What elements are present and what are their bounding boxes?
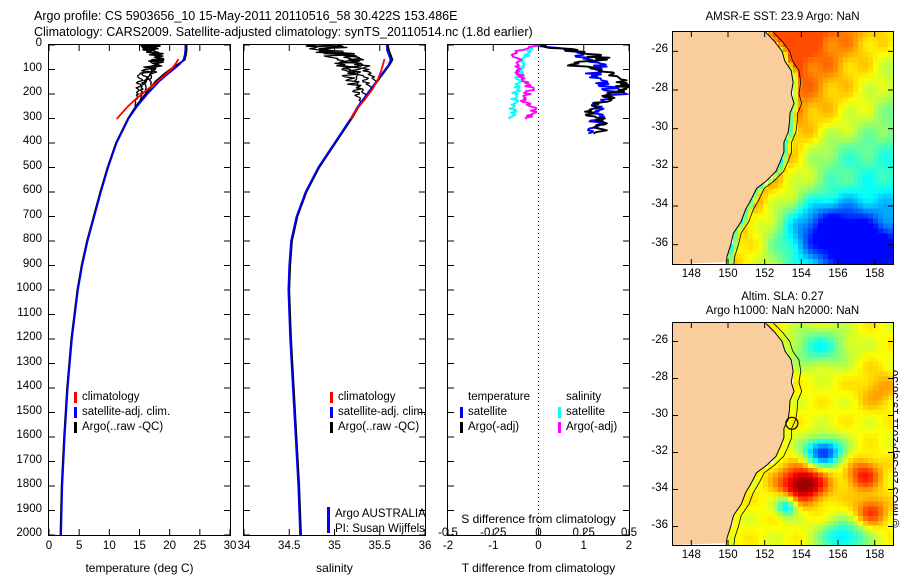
- map-lon-tick-label: 148: [671, 268, 711, 280]
- attribution-swatch: [327, 507, 330, 533]
- legend-entry: satellite-adj. clim.: [330, 405, 426, 420]
- depth-tick-label: 1900: [0, 503, 42, 515]
- depth-tick-label: 100: [0, 62, 42, 74]
- depth-tick-label: 2000: [0, 527, 42, 539]
- axis-tick-label: -1: [471, 540, 515, 552]
- depth-tick-label: 300: [0, 111, 42, 123]
- depth-tick-label: 1100: [0, 307, 42, 319]
- map-lon-tick-label: 156: [818, 268, 858, 280]
- sla-map-field: [673, 323, 893, 545]
- map-lon-tick-label: 152: [745, 549, 785, 561]
- depth-tick-label: 1600: [0, 429, 42, 441]
- legend-label: climatology: [338, 390, 396, 405]
- salinity-plot-area: [244, 45, 425, 535]
- map-lat-tick-label: -36: [636, 519, 668, 531]
- axis-tick-label: 34: [222, 540, 266, 552]
- legend-heading: salinity: [558, 390, 617, 405]
- legend-swatch: [74, 407, 77, 418]
- sst-map-title: AMSR-E SST: 23.9 Argo: NaN: [665, 10, 900, 24]
- sla-map: [672, 322, 894, 546]
- legend-entry: satellite-adj. clim.: [74, 405, 170, 420]
- sla-map-title-line-1: Altim. SLA: 0.27: [665, 290, 900, 304]
- legend-label: Argo(-adj): [566, 420, 617, 435]
- legend-swatch: [558, 422, 561, 433]
- depth-tick-label: 200: [0, 86, 42, 98]
- map-lon-tick-label: 152: [745, 268, 785, 280]
- legend-swatch: [460, 422, 463, 433]
- argo-australia-attribution: Argo AUSTRALIA PI: Susan Wijffels: [327, 507, 426, 522]
- title-line-1: Argo profile: CS 5903656_10 15-May-2011 …: [34, 8, 674, 24]
- map-lat-tick-label: -34: [636, 198, 668, 210]
- t-difference-axis-title: T difference from climatology: [447, 561, 630, 575]
- map-lat-tick-label: -30: [636, 121, 668, 133]
- map-lon-tick-label: 154: [781, 549, 821, 561]
- axis-tick-label: 2: [607, 540, 651, 552]
- legend-heading: temperature: [460, 390, 530, 405]
- salinity-panel: [243, 44, 426, 536]
- depth-tick-label: 1000: [0, 282, 42, 294]
- legend-entry: Argo(-adj): [558, 420, 617, 435]
- legend-column: temperaturesatelliteArgo(-adj): [460, 390, 530, 435]
- depth-tick-label: 1500: [0, 405, 42, 417]
- map-lat-tick-label: -28: [636, 82, 668, 94]
- axis-tick-label: 0.25: [562, 527, 606, 539]
- map-lon-tick-label: 150: [708, 268, 748, 280]
- map-lat-tick-label: -32: [636, 445, 668, 457]
- map-lat-tick-label: -36: [636, 237, 668, 249]
- legend-label: satellite: [468, 405, 507, 420]
- difference-legend: temperaturesatelliteArgo(-adj)salinitysa…: [460, 390, 617, 435]
- depth-tick-label: 1200: [0, 331, 42, 343]
- sst-map-field: [673, 32, 893, 264]
- depth-tick-label: 0: [0, 37, 42, 49]
- depth-tick-label: 800: [0, 233, 42, 245]
- difference-plot-area: [448, 45, 629, 535]
- salinity-axis-title: salinity: [243, 561, 426, 575]
- legend-swatch: [330, 422, 333, 433]
- legend-label: Argo(-adj): [468, 420, 519, 435]
- legend-entry: climatology: [330, 390, 426, 405]
- axis-tick-label: -2: [426, 540, 470, 552]
- axis-tick-label: 1: [562, 540, 606, 552]
- legend-entry: Argo(..raw -QC): [330, 420, 426, 435]
- axis-tick-label: 0: [517, 527, 561, 539]
- map-lon-tick-label: 156: [818, 549, 858, 561]
- legend-label: satellite-adj. clim.: [82, 405, 170, 420]
- title-line-2: Climatology: CARS2009. Satellite-adjuste…: [34, 24, 674, 40]
- legend-entry: satellite: [460, 405, 530, 420]
- map-lat-tick-label: -34: [636, 482, 668, 494]
- legend-swatch: [558, 407, 561, 418]
- map-lon-tick-label: 158: [855, 549, 895, 561]
- map-lat-tick-label: -28: [636, 371, 668, 383]
- depth-tick-label: 400: [0, 135, 42, 147]
- axis-tick-label: -0.5: [426, 527, 470, 539]
- legend-swatch: [330, 407, 333, 418]
- legend-swatch: [330, 392, 333, 403]
- axis-tick-label: 34.5: [267, 540, 311, 552]
- attribution-line-1: Argo AUSTRALIA: [335, 507, 426, 522]
- map-lat-tick-label: -30: [636, 408, 668, 420]
- sst-map-title-line-1: AMSR-E SST: 23.9 Argo: NaN: [665, 10, 900, 24]
- legend-swatch: [74, 422, 77, 433]
- depth-tick-label: 900: [0, 258, 42, 270]
- legend-label: climatology: [82, 390, 140, 405]
- map-lat-tick-label: -26: [636, 43, 668, 55]
- legend-label: Argo(..raw -QC): [338, 420, 419, 435]
- axis-tick-label: -0.25: [471, 527, 515, 539]
- legend-swatch: [460, 407, 463, 418]
- sla-map-title-line-2: Argo h1000: NaN h2000: NaN: [665, 304, 900, 318]
- depth-tick-label: 500: [0, 160, 42, 172]
- map-lat-tick-label: -26: [636, 334, 668, 346]
- legend-label: satellite-adj. clim.: [338, 405, 426, 420]
- axis-tick-label: 35.5: [358, 540, 402, 552]
- axis-tick-label: 35: [313, 540, 357, 552]
- temperature-axis-title: temperature (deg C): [48, 561, 231, 575]
- map-lon-tick-label: 154: [781, 268, 821, 280]
- salinity-legend: climatologysatellite-adj. clim.Argo(..ra…: [330, 390, 426, 435]
- depth-tick-label: 1400: [0, 380, 42, 392]
- depth-tick-label: 700: [0, 209, 42, 221]
- depth-tick-label: 1700: [0, 454, 42, 466]
- legend-entry: Argo(-adj): [460, 420, 530, 435]
- sst-map: [672, 31, 894, 265]
- legend-label: satellite: [566, 405, 605, 420]
- legend-swatch: [74, 392, 77, 403]
- figure-title: Argo profile: CS 5903656_10 15-May-2011 …: [34, 8, 674, 40]
- temperature-legend: climatologysatellite-adj. clim.Argo(..ra…: [74, 390, 170, 435]
- legend-label: Argo(..raw -QC): [82, 420, 163, 435]
- legend-column: salinitysatelliteArgo(-adj): [558, 390, 617, 435]
- map-lat-tick-label: -32: [636, 159, 668, 171]
- depth-tick-label: 1800: [0, 478, 42, 490]
- legend-entry: climatology: [74, 390, 170, 405]
- legend-entry: satellite: [558, 405, 617, 420]
- axis-tick-label: 0: [517, 540, 561, 552]
- temperature-plot-area: [49, 45, 230, 535]
- map-lon-tick-label: 150: [708, 549, 748, 561]
- temperature-panel: [48, 44, 231, 536]
- map-lon-tick-label: 148: [671, 549, 711, 561]
- map-lon-tick-label: 158: [855, 268, 895, 280]
- legend-entry: Argo(..raw -QC): [74, 420, 170, 435]
- depth-tick-label: 600: [0, 184, 42, 196]
- depth-tick-label: 1300: [0, 356, 42, 368]
- sla-map-title: Altim. SLA: 0.27 Argo h1000: NaN h2000: …: [665, 290, 900, 318]
- difference-panel: [447, 44, 630, 536]
- s-difference-axis-title: S difference from climatology: [447, 512, 630, 526]
- attribution-line-2: PI: Susan Wijffels: [335, 522, 426, 537]
